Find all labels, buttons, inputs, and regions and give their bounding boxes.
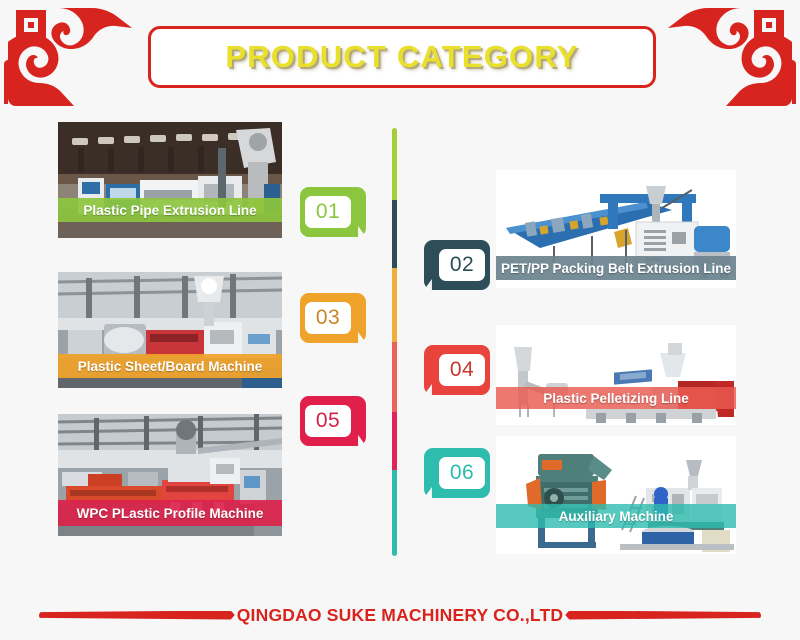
- caption-04-text: Plastic Pelletizing Line: [543, 391, 689, 406]
- divider-rule: [392, 128, 397, 556]
- category-card-06[interactable]: Auxiliary Machine: [496, 436, 736, 554]
- company-name: QINGDAO SUKE MACHINERY CO.,LTD: [235, 605, 566, 626]
- photo-plastic-pelletizing-line: [496, 325, 736, 425]
- caption-04: Plastic Pelletizing Line: [496, 387, 736, 409]
- category-card-01[interactable]: Plastic Pipe Extrusion Line: [58, 122, 282, 238]
- category-card-02[interactable]: PET/PP Packing Belt Extrusion Line: [496, 170, 736, 288]
- badge-03-number: 03: [316, 306, 340, 330]
- badge-02[interactable]: 02: [424, 240, 490, 290]
- divider-segment-6: [392, 470, 397, 556]
- caption-01: Plastic Pipe Extrusion Line: [58, 198, 282, 222]
- badge-06-number: 06: [450, 461, 474, 485]
- poster-canvas: PRODUCT CATEGORY: [0, 0, 800, 640]
- page-title: PRODUCT CATEGORY: [225, 39, 578, 75]
- caption-02: PET/PP Packing Belt Extrusion Line: [496, 256, 736, 280]
- badge-04-number: 04: [450, 358, 474, 382]
- caption-06-text: Auxiliary Machine: [559, 509, 674, 524]
- caption-06: Auxiliary Machine: [496, 504, 736, 528]
- caption-03: Plastic Sheet/Board Machine: [58, 354, 282, 378]
- badge-02-number: 02: [450, 253, 474, 277]
- category-card-04[interactable]: Plastic Pelletizing Line: [496, 325, 736, 425]
- caption-02-text: PET/PP Packing Belt Extrusion Line: [501, 261, 731, 276]
- badge-02-plate: 02: [439, 249, 485, 281]
- caption-05-text: WPC PLastic Profile Machine: [77, 506, 264, 521]
- badge-06[interactable]: 06: [424, 448, 490, 498]
- badge-03-plate: 03: [305, 302, 351, 334]
- caption-05: WPC PLastic Profile Machine: [58, 500, 282, 526]
- divider-segment-1: [392, 128, 397, 200]
- divider-segment-4: [392, 342, 397, 412]
- caption-03-text: Plastic Sheet/Board Machine: [78, 359, 263, 374]
- divider-segment-5: [392, 412, 397, 470]
- divider-segment-2: [392, 200, 397, 268]
- badge-05-number: 05: [316, 409, 340, 433]
- badge-04[interactable]: 04: [424, 345, 490, 395]
- photo-auxiliary-machine: [496, 436, 736, 554]
- corner-ornament-top-right-icon: [666, 2, 798, 106]
- badge-06-plate: 06: [439, 457, 485, 489]
- badge-01-number: 01: [316, 200, 340, 224]
- footer: QINGDAO SUKE MACHINERY CO.,LTD: [0, 596, 800, 634]
- footer-rule-right: [565, 611, 761, 620]
- badge-01-plate: 01: [305, 196, 351, 228]
- divider-segment-3: [392, 268, 397, 342]
- badge-03[interactable]: 03: [300, 293, 366, 343]
- badge-05-plate: 05: [305, 405, 351, 437]
- badge-05[interactable]: 05: [300, 396, 366, 446]
- caption-01-text: Plastic Pipe Extrusion Line: [83, 203, 256, 218]
- category-card-05[interactable]: WPC PLastic Profile Machine: [58, 414, 282, 536]
- page-title-box: PRODUCT CATEGORY: [148, 26, 656, 88]
- badge-01[interactable]: 01: [300, 187, 366, 237]
- footer-rule-left: [39, 611, 235, 620]
- category-card-03[interactable]: Plastic Sheet/Board Machine: [58, 272, 282, 388]
- corner-ornament-top-left-icon: [2, 2, 134, 106]
- badge-04-plate: 04: [439, 354, 485, 386]
